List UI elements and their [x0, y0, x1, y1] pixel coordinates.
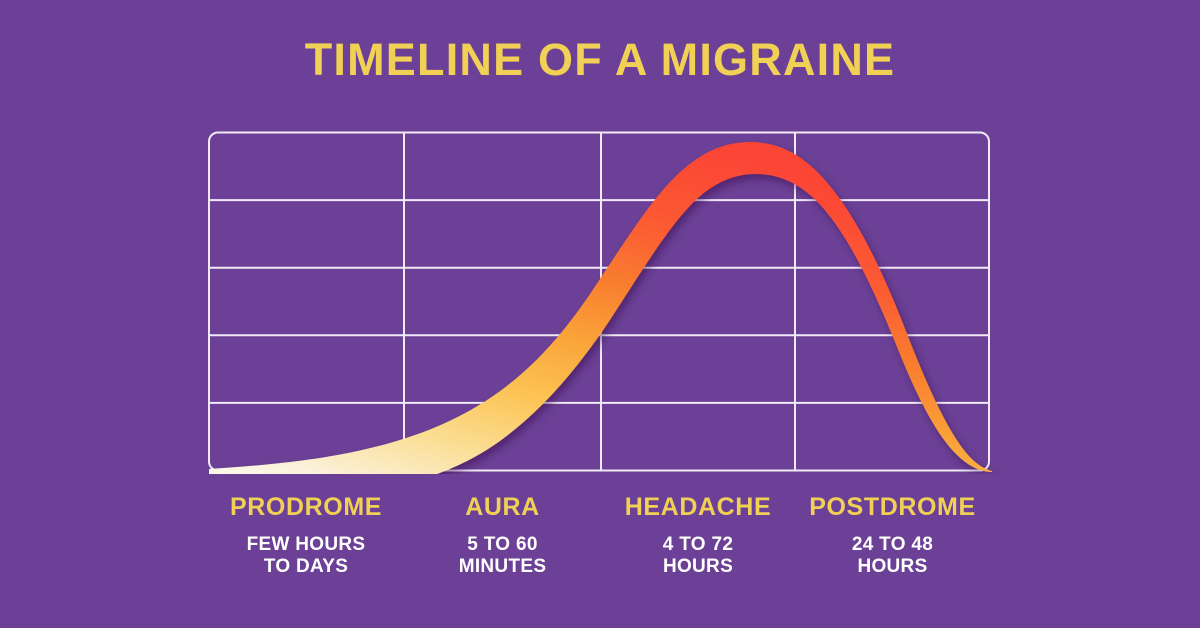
- phase-block-headache: HEADACHE 4 TO 72 HOURS: [601, 492, 795, 578]
- phase-block-postdrome: POSTDROME 24 TO 48 HOURS: [795, 492, 990, 578]
- phase-duration-aura-line1: 5 TO 60: [404, 534, 601, 556]
- grid-outer-frame: [209, 133, 989, 471]
- phase-name-headache: HEADACHE: [601, 492, 795, 522]
- phase-duration-aura: 5 TO 60 MINUTES: [404, 534, 601, 578]
- phase-duration-prodrome: FEW HOURS TO DAYS: [208, 534, 404, 578]
- phase-duration-prodrome-line2: TO DAYS: [208, 556, 404, 578]
- phase-block-prodrome: PRODROME FEW HOURS TO DAYS: [208, 492, 404, 578]
- phase-name-aura: AURA: [404, 492, 601, 522]
- phase-duration-postdrome-line1: 24 TO 48: [795, 534, 990, 556]
- phase-legend: PRODROME FEW HOURS TO DAYS AURA 5 TO 60 …: [208, 492, 990, 592]
- phase-duration-headache: 4 TO 72 HOURS: [601, 534, 795, 578]
- phase-duration-postdrome: 24 TO 48 HOURS: [795, 534, 990, 578]
- phase-name-postdrome: POSTDROME: [795, 492, 990, 522]
- phase-duration-headache-line1: 4 TO 72: [601, 534, 795, 556]
- phase-duration-postdrome-line2: HOURS: [795, 556, 990, 578]
- chart-plot-area: [208, 112, 990, 472]
- phase-duration-headache-line2: HOURS: [601, 556, 795, 578]
- phase-duration-aura-line2: MINUTES: [404, 556, 601, 578]
- phase-block-aura: AURA 5 TO 60 MINUTES: [404, 492, 601, 578]
- page-title: TIMELINE OF A MIGRAINE: [0, 33, 1200, 87]
- phase-duration-prodrome-line1: FEW HOURS: [208, 534, 404, 556]
- migraine-timeline-infographic: TIMELINE OF A MIGRAINE: [0, 0, 1200, 628]
- phase-name-prodrome: PRODROME: [208, 492, 404, 522]
- chart-grid: [208, 112, 990, 472]
